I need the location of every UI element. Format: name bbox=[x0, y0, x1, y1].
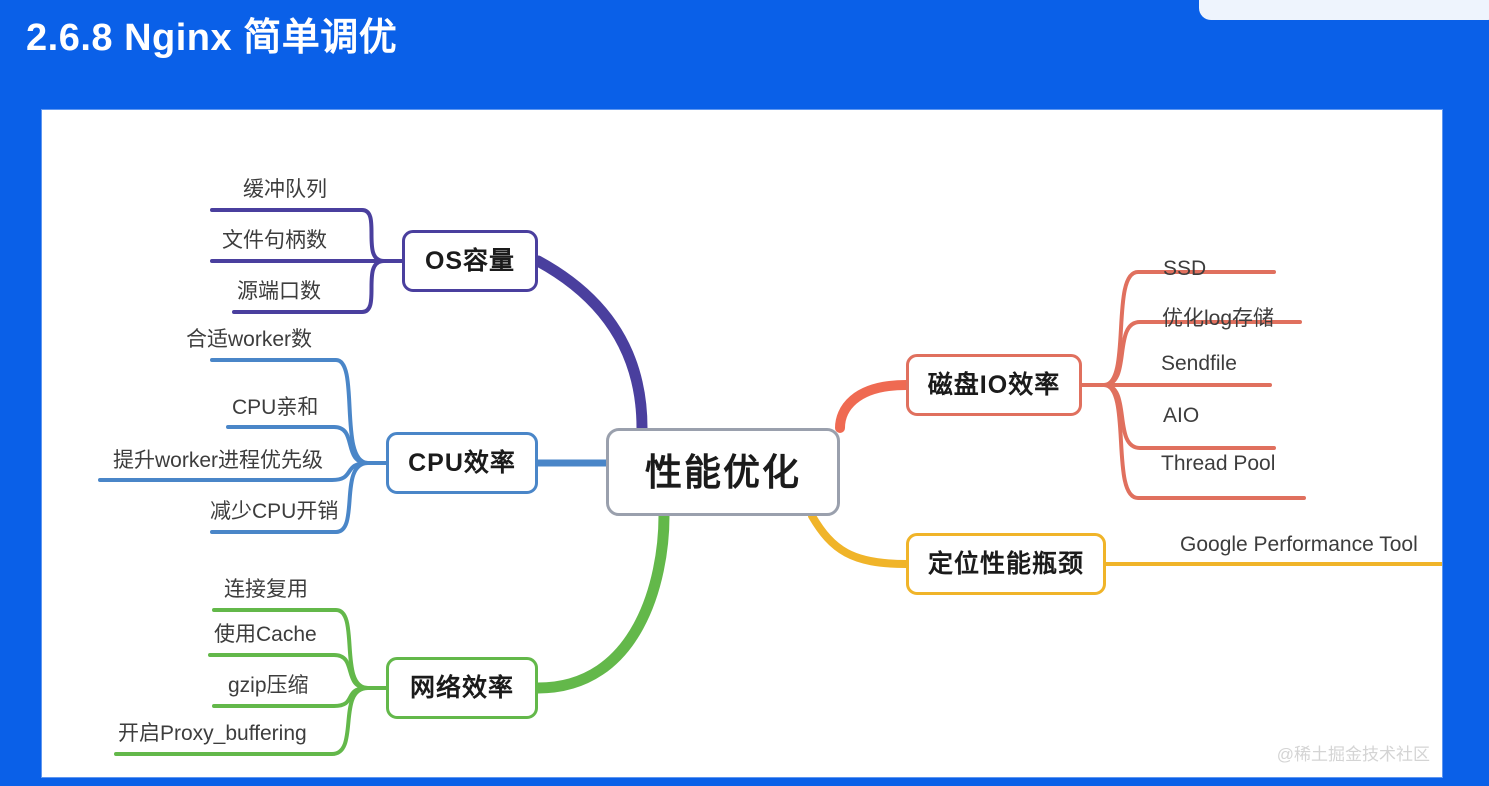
mindmap-node-center[interactable]: 性能优化 bbox=[606, 428, 840, 516]
leaf-cpu-1[interactable]: CPU亲和 bbox=[232, 397, 318, 418]
leaf-net-2[interactable]: gzip压缩 bbox=[228, 675, 309, 696]
leaf-cpu-2[interactable]: 提升worker进程优先级 bbox=[113, 450, 323, 471]
page-title: 2.6.8 Nginx 简单调优 bbox=[26, 6, 397, 61]
node-network-label: 网络效率 bbox=[410, 676, 514, 701]
leaf-os-2[interactable]: 源端口数 bbox=[237, 281, 321, 302]
watermark: @稀土掘金技术社区 bbox=[1277, 740, 1430, 765]
leaf-net-1[interactable]: 使用Cache bbox=[214, 624, 317, 645]
mindmap-card: 性能优化 OS容量 CPU效率 网络效率 磁盘IO效率 定位性能瓶颈 缓冲队列 … bbox=[42, 110, 1442, 777]
mindmap-node-cpu[interactable]: CPU效率 bbox=[386, 432, 538, 494]
leaf-os-1[interactable]: 文件句柄数 bbox=[222, 230, 327, 251]
mindmap-node-network[interactable]: 网络效率 bbox=[386, 657, 538, 719]
leaf-disk-2[interactable]: Sendfile bbox=[1161, 353, 1237, 374]
leaf-net-0[interactable]: 连接复用 bbox=[224, 579, 308, 600]
leaf-disk-4[interactable]: Thread Pool bbox=[1161, 453, 1275, 474]
top-badge-panel: 字节跳动 青训营社区 bbox=[1199, 0, 1489, 20]
node-center-label: 性能优化 bbox=[645, 454, 801, 491]
node-bottleneck-label: 定位性能瓶颈 bbox=[928, 552, 1084, 577]
leaf-cpu-0[interactable]: 合适worker数 bbox=[186, 329, 312, 350]
leaf-disk-1[interactable]: 优化log存储 bbox=[1162, 308, 1274, 329]
slide-screen: 2.6.8 Nginx 简单调优 字节跳动 青训营社区 bbox=[0, 0, 1489, 786]
leaf-bottleneck-0[interactable]: Google Performance Tool bbox=[1180, 534, 1418, 555]
node-os-label: OS容量 bbox=[425, 249, 515, 274]
mindmap-node-os[interactable]: OS容量 bbox=[402, 230, 538, 292]
node-disk-io-label: 磁盘IO效率 bbox=[928, 373, 1060, 398]
leaf-disk-0[interactable]: SSD bbox=[1163, 258, 1206, 279]
mindmap-node-bottleneck[interactable]: 定位性能瓶颈 bbox=[906, 533, 1106, 595]
leaf-net-3[interactable]: 开启Proxy_buffering bbox=[118, 723, 307, 744]
node-cpu-label: CPU效率 bbox=[408, 451, 516, 476]
leaf-cpu-3[interactable]: 减少CPU开销 bbox=[210, 501, 338, 522]
mindmap-node-disk-io[interactable]: 磁盘IO效率 bbox=[906, 354, 1082, 416]
leaf-disk-3[interactable]: AIO bbox=[1163, 405, 1199, 426]
leaf-os-0[interactable]: 缓冲队列 bbox=[243, 179, 327, 200]
